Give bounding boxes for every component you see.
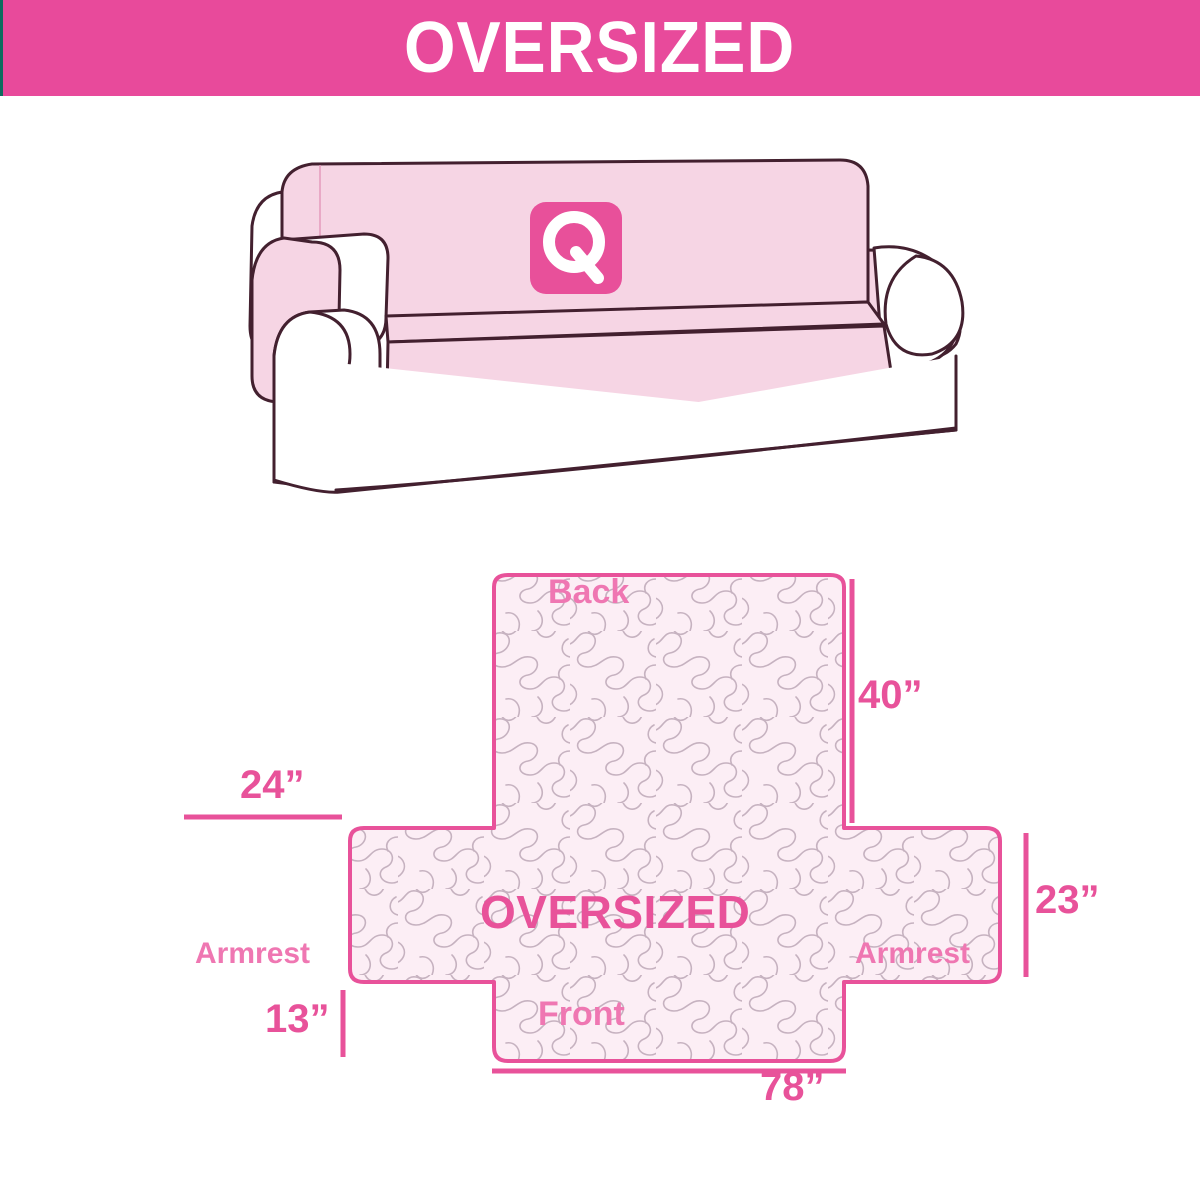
dimension-label-24: 24” xyxy=(240,763,305,808)
dimension-label-40: 40” xyxy=(858,673,923,718)
panel-label-back: Back xyxy=(548,573,629,612)
dimension-label-23: 23” xyxy=(1035,878,1100,923)
dimension-label-13: 13” xyxy=(265,997,330,1042)
page-title: OVERSIZED xyxy=(404,12,795,84)
sofa-svg xyxy=(240,130,980,520)
diagram-center-text: OVERSIZED xyxy=(480,885,750,939)
cover-shape xyxy=(348,575,1000,1061)
header-edge-accent xyxy=(0,0,3,96)
cover-outline xyxy=(350,575,1000,1061)
brand-logo xyxy=(530,202,622,294)
panel-label-front: Front xyxy=(538,995,625,1034)
dimension-diagram: Back Front Armrest Armrest OVERSIZED 40”… xyxy=(140,545,1100,1115)
panel-label-armrest-right: Armrest xyxy=(855,937,970,971)
panel-label-armrest-left: Armrest xyxy=(195,937,310,971)
dimension-label-78: 78” xyxy=(760,1065,825,1110)
sofa-illustration xyxy=(240,130,980,520)
sofa-arm-right-roll xyxy=(885,256,963,355)
header-banner: OVERSIZED xyxy=(0,0,1200,96)
